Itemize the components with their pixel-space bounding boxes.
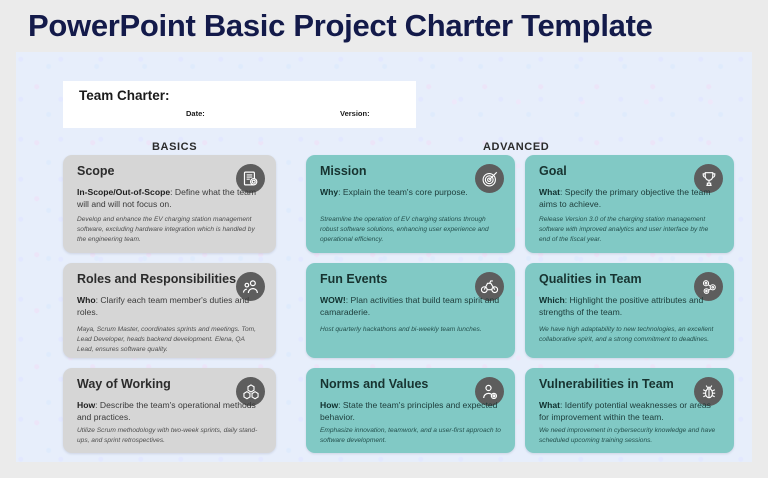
card-lead: What: Specify the primary objective the … [539, 186, 720, 210]
card-title: Fun Events [320, 273, 387, 286]
card-vulnerabilities-in-team[interactable]: Vulnerabilities in Team What: Identify p… [525, 368, 734, 453]
card-detail: Develop and enhance the EV charging stat… [77, 215, 262, 246]
card-lead-bold: WOW! [320, 295, 346, 305]
card-lead: WOW!: Plan activities that build team sp… [320, 294, 501, 318]
card-lead-rest: : Describe the team's operational method… [77, 400, 256, 422]
card-lead: What: Identify potential weaknesses or a… [539, 399, 720, 423]
page-title: PowerPoint Basic Project Charter Templat… [28, 8, 653, 44]
card-fun-events[interactable]: Fun Events WOW!: Plan activities that bu… [306, 263, 515, 358]
card-way-of-working[interactable]: Way of Working How: Describe the team's … [63, 368, 276, 453]
card-norms-and-values[interactable]: Norms and Values How: State the team's p… [306, 368, 515, 453]
card-title: Goal [539, 165, 567, 178]
card-title: Roles and Responsibilities [77, 273, 236, 286]
card-lead-bold: Why [320, 187, 338, 197]
card-title: Scope [77, 165, 115, 178]
card-lead: Why: Explain the team's core purpose. [320, 186, 501, 198]
card-lead: Who: Clarify each team member's duties a… [77, 294, 262, 318]
card-detail: Host quarterly hackathons and bi-weekly … [320, 325, 501, 335]
date-label: Date: [186, 109, 205, 118]
card-lead: Which: Highlight the positive attributes… [539, 294, 720, 318]
card-lead-rest: : Explain the team's core purpose. [338, 187, 468, 197]
version-label: Version: [340, 109, 370, 118]
slide-canvas: Team Charter: Date: Version: BASICS ADVA… [16, 52, 752, 462]
card-detail: Utilize Scrum methodology with two-week … [77, 426, 262, 446]
team-charter-header: Team Charter: Date: Version: [63, 81, 416, 128]
card-qualities-in-team[interactable]: Qualities in Team Which: Highlight the p… [525, 263, 734, 358]
card-lead-bold: How [77, 400, 95, 410]
card-goal[interactable]: Goal What: Specify the primary objective… [525, 155, 734, 253]
column-heading-basics: BASICS [152, 141, 197, 153]
card-lead-rest: : State the team's principles and expect… [320, 400, 497, 422]
card-roles-and-responsibilities[interactable]: Roles and Responsibilities Who: Clarify … [63, 263, 276, 358]
card-lead-bold: Which [539, 295, 565, 305]
card-lead: In-Scope/Out-of-Scope: Define what the t… [77, 186, 262, 210]
card-detail: Release Version 3.0 of the charging stat… [539, 215, 720, 246]
card-lead-bold: How [320, 400, 338, 410]
card-title: Vulnerabilities in Team [539, 378, 674, 391]
card-detail: Streamline the operation of EV charging … [320, 215, 501, 246]
card-scope[interactable]: Scope In-Scope/Out-of-Scope: Define what… [63, 155, 276, 253]
card-lead-bold: What [539, 400, 560, 410]
card-lead-rest: : Specify the primary objective the team… [539, 187, 710, 209]
card-lead-rest: : Plan activities that build team spirit… [320, 295, 499, 317]
card-lead-bold: What [539, 187, 560, 197]
card-title: Mission [320, 165, 367, 178]
card-title: Qualities in Team [539, 273, 642, 286]
card-title: Way of Working [77, 378, 171, 391]
team-charter-heading: Team Charter: [79, 88, 170, 103]
card-lead: How: State the team's principles and exp… [320, 399, 501, 423]
card-lead-bold: In-Scope/Out-of-Scope [77, 187, 170, 197]
card-lead-rest: : Clarify each team member's duties and … [77, 295, 249, 317]
card-lead-bold: Who [77, 295, 96, 305]
card-detail: Emphasize innovation, teamwork, and a us… [320, 426, 501, 446]
column-heading-advanced: ADVANCED [483, 141, 549, 153]
card-mission[interactable]: Mission Why: Explain the team's core pur… [306, 155, 515, 253]
slide-page: PowerPoint Basic Project Charter Templat… [0, 0, 768, 478]
card-detail: Maya, Scrum Master, coordinates sprints … [77, 325, 262, 356]
card-detail: We have high adaptability to new technol… [539, 325, 720, 345]
card-lead: How: Describe the team's operational met… [77, 399, 262, 423]
card-detail: We need improvement in cybersecurity kno… [539, 426, 720, 446]
card-lead-rest: : Identify potential weaknesses or areas… [539, 400, 711, 422]
card-title: Norms and Values [320, 378, 428, 391]
